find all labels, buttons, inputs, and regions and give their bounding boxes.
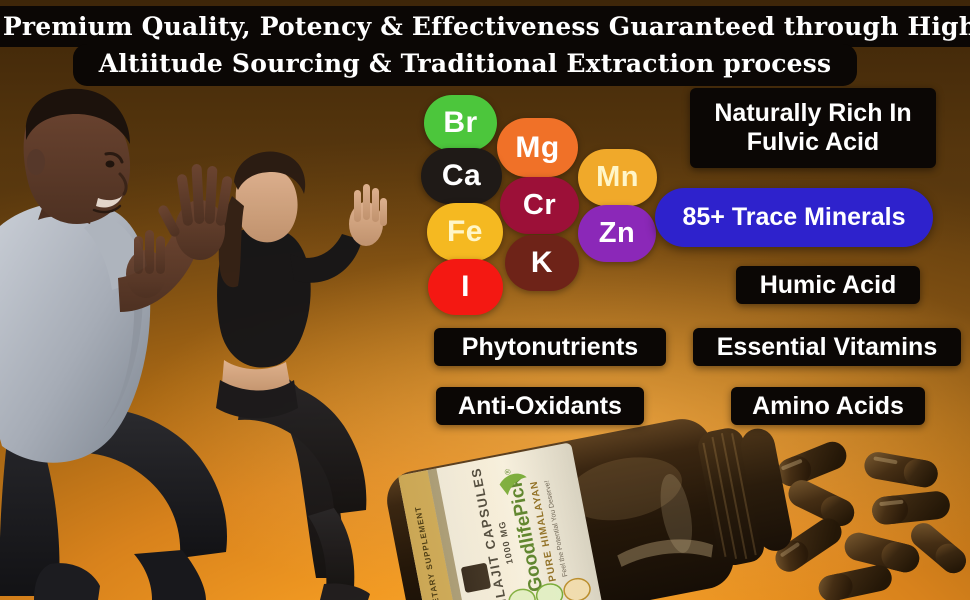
bottle-illustration: GoodlifePick ® PURE HIMALAYAN Feel the P… <box>380 410 800 600</box>
product-bottle: GoodlifePick ® PURE HIMALAYAN Feel the P… <box>380 410 800 600</box>
promo-banner: Premium Quality, Potency & Effectiveness… <box>0 0 970 600</box>
fulvic-line-1: Naturally Rich In <box>714 99 911 128</box>
mineral-pill-k: K <box>505 235 579 291</box>
headline-line-2: Altiitude Sourcing & Traditional Extract… <box>73 44 858 86</box>
label-phytonutrients: Phytonutrients <box>434 328 666 366</box>
mineral-symbol: Mg <box>515 131 559 165</box>
mineral-pill-zn: Zn <box>578 205 656 262</box>
label-essential-vitamins: Essential Vitamins <box>693 328 961 366</box>
mineral-symbol: Fe <box>447 215 483 249</box>
fulvic-line-2: Fulvic Acid <box>714 128 911 157</box>
mineral-symbol: Mn <box>596 161 639 194</box>
fitness-photo <box>0 78 414 600</box>
headline-line-1: Premium Quality, Potency & Effectiveness… <box>0 6 970 47</box>
mineral-pill-mn: Mn <box>578 149 657 206</box>
trace-minerals-text: 85+ Trace Minerals <box>682 203 905 232</box>
mineral-pill-cr: Cr <box>500 177 579 234</box>
mineral-symbol: K <box>531 246 553 280</box>
label-fulvic-acid: Naturally Rich In Fulvic Acid <box>690 88 936 168</box>
label-amino-acids: Amino Acids <box>731 387 925 425</box>
headline: Premium Quality, Potency & Effectiveness… <box>0 6 970 86</box>
mineral-pill-i: I <box>428 259 503 315</box>
mineral-symbol: Ca <box>442 159 481 193</box>
mineral-pill-br: Br <box>424 95 497 151</box>
people-illustration <box>0 78 414 600</box>
mineral-pill-ca: Ca <box>421 148 502 204</box>
label-trace-minerals: 85+ Trace Minerals <box>655 188 933 247</box>
label-anti-oxidants: Anti-Oxidants <box>436 387 644 425</box>
mineral-pill-fe: Fe <box>427 203 503 261</box>
mineral-symbol: I <box>461 270 470 304</box>
label-humic-acid: Humic Acid <box>736 266 920 304</box>
mineral-symbol: Br <box>443 106 477 140</box>
mineral-symbol: Cr <box>523 189 556 222</box>
mineral-symbol: Zn <box>599 217 635 250</box>
mineral-pill-mg: Mg <box>497 118 578 177</box>
